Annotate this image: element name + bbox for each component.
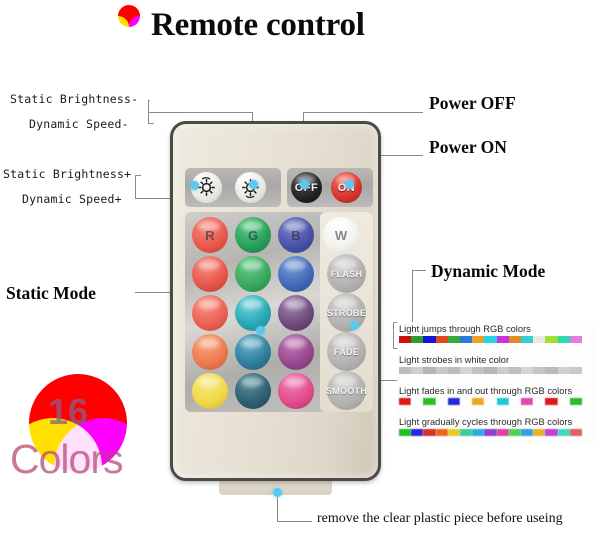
color-button-r3c3[interactable] [278,295,314,331]
legend-swatch [460,429,472,436]
legend-bar-smooth [399,429,582,436]
callout-line [148,112,253,113]
legend-swatch [521,398,533,405]
color-button-green[interactable]: G [235,217,271,253]
legend-swatch [460,398,472,405]
legend-swatch [497,336,509,343]
callout-dot-plastic-piece [273,488,282,497]
legend-swatch [436,398,448,405]
callout-dot-brightness-down [190,181,199,190]
fade-button[interactable]: FADE [327,332,366,371]
callout-line [148,123,154,124]
color-button-r5c3[interactable] [278,373,314,409]
legend-text-flash: Light jumps through RGB colors [399,324,595,335]
legend-swatch [411,367,423,374]
color-button-r4c2[interactable] [235,334,271,370]
legend-swatch [411,429,423,436]
legend-swatch [545,429,557,436]
callout-dot-static-mode [256,326,265,335]
callout-line [135,175,141,176]
legend-swatch [484,398,496,405]
smooth-label: SMOOTH [326,386,367,396]
label-static-mode: Static Mode [6,283,96,304]
legend-swatch [570,367,582,374]
legend-swatch [533,398,545,405]
remote-control-body: OFF ON R G B W FLASH STROBE FADE SM [170,121,381,481]
legend-bar-flash [399,336,582,343]
legend-swatch [472,429,484,436]
legend-swatch [484,367,496,374]
legend-bar-strobe [399,367,582,374]
legend-swatch [509,367,521,374]
callout-line [135,175,136,199]
color-button-red[interactable]: R [192,217,228,253]
callout-dot-brightness-up [249,180,258,189]
legend-swatch [399,336,411,343]
callout-line [277,521,312,522]
label-power-off: Power OFF [429,93,516,114]
color-label-b: B [291,228,300,243]
illustration-canvas: Remote control Static Brightness- Dynami… [0,0,600,545]
legend-swatch [521,367,533,374]
legend-swatch [509,336,521,343]
legend-swatch [472,398,484,405]
color-button-r5c1[interactable] [192,373,228,409]
strobe-button[interactable]: STROBE [327,293,366,332]
legend-swatch [558,367,570,374]
legend-swatch [448,398,460,405]
legend-swatch [411,336,423,343]
legend-swatch [545,367,557,374]
legend-swatch [545,336,557,343]
legend-swatch [423,429,435,436]
legend-swatch [423,367,435,374]
legend-swatch [436,336,448,343]
legend-swatch [509,429,521,436]
legend-swatch [509,398,521,405]
legend-swatch [399,398,411,405]
color-label-w: W [335,228,347,243]
legend-swatch [558,336,570,343]
legend-swatch [436,429,448,436]
legend-item-smooth: Light gradually cycles through RGB color… [399,417,595,436]
callout-line [148,100,150,101]
legend-swatch [497,367,509,374]
legend-swatch [521,336,533,343]
legend-swatch [411,398,423,405]
callout-dot-power-on [345,180,354,189]
legend-swatch [497,398,509,405]
legend-swatch [533,429,545,436]
legend-swatch [497,429,509,436]
color-button-r5c2[interactable] [235,373,271,409]
legend-swatch [399,367,411,374]
color-button-blue[interactable]: B [278,217,314,253]
legend-swatch [423,336,435,343]
legend-swatch [570,336,582,343]
legend-swatch [423,398,435,405]
legend-item-fade: Light fades in and out through RGB color… [399,386,595,405]
legend-swatch [570,398,582,405]
page-header: Remote control [106,4,365,46]
legend-swatch [472,367,484,374]
color-button-r4c1[interactable] [192,334,228,370]
page-title: Remote control [151,5,365,45]
rgb-venn-icon [106,4,152,46]
logo-text-16: 16 [48,391,88,433]
label-static-brightness-minus: Static Brightness- [10,92,138,106]
flash-button[interactable]: FLASH [327,254,366,293]
legend-text-fade: Light fades in and out through RGB color… [399,386,595,397]
legend-item-flash: Light jumps through RGB colors [399,324,595,343]
label-power-on: Power ON [429,137,507,158]
sun-minus-icon [196,177,217,198]
legend-item-strobe: Light strobes in white color [399,355,595,374]
legend-swatch [533,367,545,374]
legend-bar-fade [399,398,582,405]
label-static-brightness-plus: Static Brightness+ [3,167,131,181]
callout-dot-power-off [300,180,309,189]
legend-swatch [460,336,472,343]
strobe-label: STROBE [327,308,366,318]
legend-swatch [533,336,545,343]
color-button-white[interactable]: W [323,217,359,253]
legend-swatch [448,367,460,374]
sixteen-colors-logo: 16 Colors [4,374,152,522]
legend-swatch [484,336,496,343]
legend-swatch [472,336,484,343]
callout-dot-dynamic-mode [350,321,359,330]
flash-label: FLASH [331,269,363,279]
color-button-r3c1[interactable] [192,295,228,331]
fade-label: FADE [334,347,359,357]
legend-swatch [558,398,570,405]
callout-line [393,322,394,348]
label-dynamic-mode: Dynamic Mode [431,261,545,282]
callout-line [412,270,426,271]
legend-swatch [436,367,448,374]
logo-text-colors: Colors [10,436,122,483]
color-button-r2c1[interactable] [192,256,228,292]
legend-text-strobe: Light strobes in white color [399,355,595,366]
color-label-g: G [248,228,258,243]
legend-text-smooth: Light gradually cycles through RGB color… [399,417,595,428]
smooth-button[interactable]: SMOOTH [327,371,366,410]
legend-swatch [448,336,460,343]
mode-legend-panel: Light jumps through RGB colors Light str… [397,322,597,444]
color-label-r: R [205,228,214,243]
color-button-r2c2[interactable] [235,256,271,292]
color-button-r4c3[interactable] [278,334,314,370]
legend-swatch [448,429,460,436]
legend-swatch [460,367,472,374]
label-remove-plastic: remove the clear plastic piece before us… [317,511,563,527]
legend-swatch [399,429,411,436]
legend-swatch [521,429,533,436]
color-button-r2c3[interactable] [278,256,314,292]
legend-swatch [484,429,496,436]
color-button-r3c2[interactable] [235,295,271,331]
callout-line [303,112,423,113]
legend-swatch [558,429,570,436]
label-dynamic-speed-plus: Dynamic Speed+ [22,192,122,206]
legend-swatch [545,398,557,405]
legend-swatch [570,429,582,436]
label-dynamic-speed-minus: Dynamic Speed- [29,117,129,131]
